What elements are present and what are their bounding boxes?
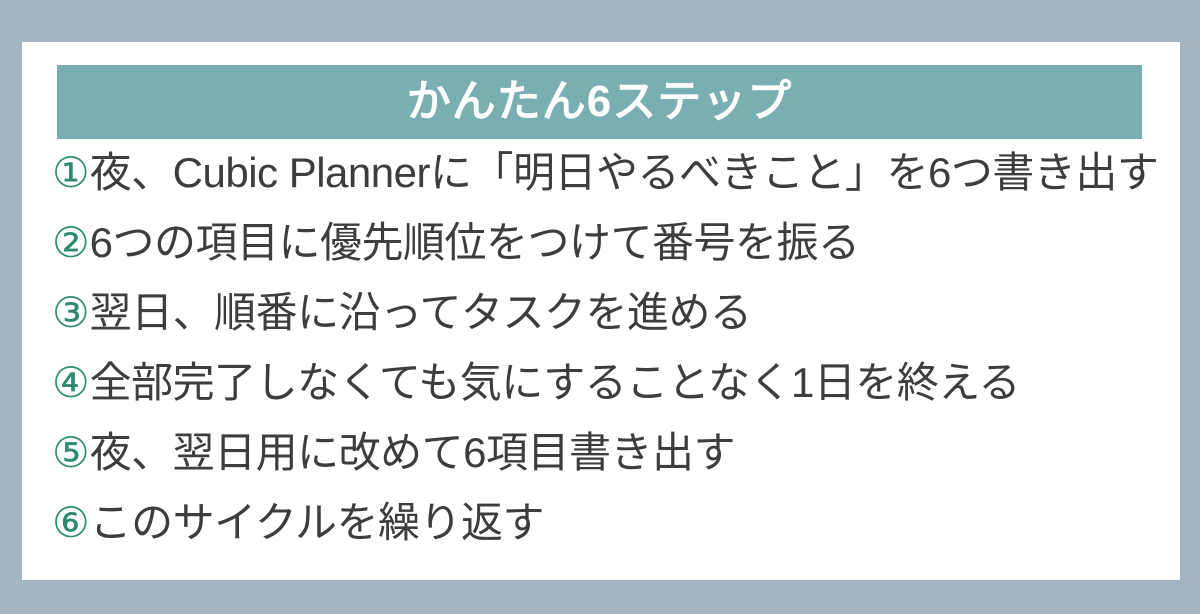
page-title: かんたん6ステップ	[407, 80, 792, 124]
poster-root: かんたん6ステップ ① 夜、Cubic Plannerに「明日やるべきこと」を6…	[0, 0, 1200, 614]
list-item: ② 6つの項目に優先順位をつけて番号を振る	[52, 222, 1168, 292]
step-number-icon: ⑥	[52, 502, 90, 544]
list-item: ① 夜、Cubic Plannerに「明日やるべきこと」を6つ書き出す	[52, 152, 1168, 222]
steps-list: ① 夜、Cubic Plannerに「明日やるべきこと」を6つ書き出す ② 6つ…	[52, 152, 1168, 572]
step-number-icon: ⑤	[52, 432, 90, 474]
content-card: かんたん6ステップ ① 夜、Cubic Plannerに「明日やるべきこと」を6…	[22, 42, 1180, 580]
step-number-icon: ③	[52, 292, 90, 334]
step-label: 翌日、順番に沿ってタスクを進める	[90, 292, 752, 334]
list-item: ⑤ 夜、翌日用に改めて6項目書き出す	[52, 432, 1168, 502]
step-label: このサイクルを繰り返す	[90, 502, 544, 544]
step-label: 夜、翌日用に改めて6項目書き出す	[90, 432, 735, 474]
step-number-icon: ②	[52, 222, 90, 264]
step-number-icon: ①	[52, 152, 90, 194]
step-number-icon: ④	[52, 362, 90, 404]
step-label: 夜、Cubic Plannerに「明日やるべきこと」を6つ書き出す	[90, 152, 1159, 194]
list-item: ⑥ このサイクルを繰り返す	[52, 502, 1168, 572]
list-item: ④ 全部完了しなくても気にすることなく1日を終える	[52, 362, 1168, 432]
list-item: ③ 翌日、順番に沿ってタスクを進める	[52, 292, 1168, 362]
step-label: 全部完了しなくても気にすることなく1日を終える	[90, 362, 1020, 404]
title-banner: かんたん6ステップ	[57, 65, 1142, 139]
step-label: 6つの項目に優先順位をつけて番号を振る	[90, 222, 860, 264]
